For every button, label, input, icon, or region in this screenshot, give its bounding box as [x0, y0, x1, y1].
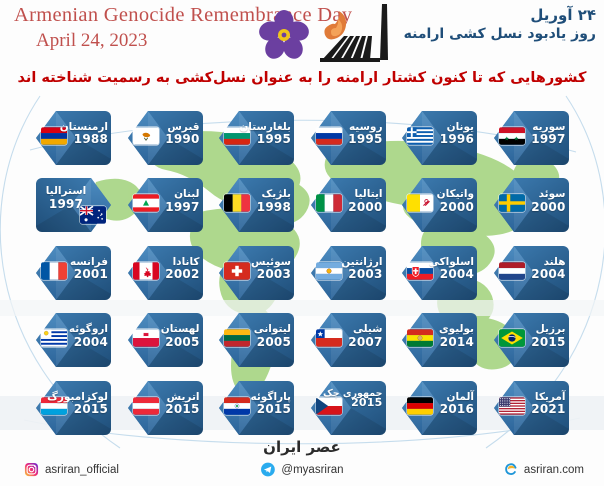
country-badge[interactable]: بولیوی2014 [400, 311, 479, 369]
country-badge-grid: ارمنستان1988 قبرس1990 بلغارستان1995 [0, 104, 604, 442]
infographic-poster: Armenian Genocide Remembrance Day April … [0, 0, 604, 486]
recognition-year: 2000 [514, 201, 566, 214]
country-badge[interactable]: فرانسه2001 [34, 244, 113, 302]
country-badge[interactable]: سوئیس2003 [217, 244, 296, 302]
badge-text: بلغارستان1995 [239, 122, 291, 146]
badge-text: برزیل2015 [514, 324, 566, 348]
recognition-year: 2014 [422, 336, 474, 349]
recognition-year: 1988 [56, 133, 108, 146]
country-badge[interactable]: لبنان1997 [126, 176, 205, 234]
recognition-year: 2004 [56, 336, 108, 349]
badge-text: کانادا2002 [148, 257, 200, 281]
country-name: لیتوانی [239, 324, 291, 335]
country-badge[interactable]: سوئد2000 [492, 176, 571, 234]
badge-text: سوریه1997 [514, 122, 566, 146]
country-name: استرالیا [38, 186, 94, 197]
country-badge[interactable]: یونان1996 [400, 109, 479, 167]
country-name: بلژیک [239, 189, 291, 200]
country-badge[interactable]: اسلواکی2004 [400, 244, 479, 302]
recognition-year: 1990 [148, 133, 200, 146]
website-url-label: asriran.com [524, 464, 584, 476]
telegram-handle[interactable]: @myasriran [260, 462, 343, 477]
recognition-year: 1995 [331, 133, 383, 146]
badge-text: لوکزامبورگ2015 [56, 392, 108, 416]
recognition-year: 2004 [422, 268, 474, 281]
badge-text: ارژانتین2003 [331, 257, 383, 281]
badge-text: شیلی2007 [331, 324, 383, 348]
badge-text: ارمنستان1988 [56, 122, 108, 146]
recognition-year: 1997 [38, 198, 94, 211]
telegram-handle-label: @myasriran [281, 464, 343, 476]
recognition-year: 2002 [148, 268, 200, 281]
country-badge[interactable]: ارمنستان1988 [34, 109, 113, 167]
badge-row: لوکزامبورگ2015 اتریش2015 پاراگوئه2015 [0, 374, 604, 442]
country-badge[interactable]: سوریه1997 [492, 109, 571, 167]
badge-text: جمهوری چک2015 [331, 389, 383, 409]
persian-subtitle: روز یادبود نسل کشی ارامنه [404, 25, 596, 44]
badge-text: آلمان2016 [422, 392, 474, 416]
brand-logo: عصر ایران [0, 438, 604, 456]
country-badge[interactable]: کانادا2002 [126, 244, 205, 302]
recognition-year: 2005 [239, 336, 291, 349]
recognition-year: 2004 [514, 268, 566, 281]
country-name: شیلی [331, 324, 383, 335]
country-badge[interactable]: آلمان2016 [400, 379, 479, 437]
recognition-year: 1995 [239, 133, 291, 146]
badge-text: ایتالیا2000 [331, 189, 383, 213]
country-name: بولیوی [422, 324, 474, 335]
country-badge[interactable]: روسیه1995 [309, 109, 388, 167]
telegram-icon [260, 462, 275, 477]
recognition-year: 2015 [514, 336, 566, 349]
country-badge[interactable]: ارژانتین2003 [309, 244, 388, 302]
poster-subtitle: کشورهایی که تا کنون کشتار ارامنه را به ع… [0, 70, 604, 86]
recognition-year: 2016 [422, 403, 474, 416]
recognition-year: 1997 [514, 133, 566, 146]
recognition-year: 2005 [148, 336, 200, 349]
badge-text: بولیوی2014 [422, 324, 474, 348]
badge-text: واتیکان2000 [422, 189, 474, 213]
badge-text: آمریکا2021 [514, 392, 566, 416]
badge-text: لیتوانی2005 [239, 324, 291, 348]
badge-row: استرالیا1997 لبنان1997 بلژیک1998 [0, 172, 604, 240]
recognition-year: 1998 [239, 201, 291, 214]
badge-text: اسلواکی2004 [422, 257, 474, 281]
country-badge[interactable]: هلند2004 [492, 244, 571, 302]
country-badge[interactable]: شیلی2007 [309, 311, 388, 369]
badge-text: اروگوئه2004 [56, 324, 108, 348]
country-badge[interactable]: استرالیا1997 [34, 176, 113, 234]
recognition-year: 2003 [331, 268, 383, 281]
badge-row: فرانسه2001 کانادا2002 سوئیس2003 [0, 239, 604, 307]
country-badge[interactable]: ایتالیا2000 [309, 176, 388, 234]
badge-text: بلژیک1998 [239, 189, 291, 213]
persian-date: ۲۴ آوریل [404, 5, 596, 25]
country-badge[interactable]: برزیل2015 [492, 311, 571, 369]
website-link[interactable]: asriran.com [503, 462, 584, 477]
recognition-year: 2021 [514, 403, 566, 416]
poster-header: Armenian Genocide Remembrance Day April … [0, 0, 604, 96]
country-badge[interactable]: واتیکان2000 [400, 176, 479, 234]
country-badge[interactable]: جمهوری چک2015 [309, 379, 388, 437]
badge-row: ارمنستان1988 قبرس1990 بلغارستان1995 [0, 104, 604, 172]
recognition-year: 2007 [331, 336, 383, 349]
badge-text: استرالیا1997 [38, 186, 94, 210]
recognition-year: 2000 [331, 201, 383, 214]
badge-text: سوئد2000 [514, 189, 566, 213]
instagram-icon [24, 462, 39, 477]
country-badge[interactable]: لهستان2005 [126, 311, 205, 369]
country-name: لهستان [148, 324, 200, 335]
browser-icon [503, 462, 518, 477]
country-badge[interactable]: اروگوئه2004 [34, 311, 113, 369]
recognition-year: 1997 [148, 201, 200, 214]
recognition-year: 1996 [422, 133, 474, 146]
badge-text: فرانسه2001 [56, 257, 108, 281]
country-badge[interactable]: بلغارستان1995 [217, 109, 296, 167]
country-badge[interactable]: آمریکا2021 [492, 379, 571, 437]
recognition-year: 2001 [56, 268, 108, 281]
recognition-year: 2015 [148, 403, 200, 416]
badge-text: یونان1996 [422, 122, 474, 146]
country-badge[interactable]: لوکزامبورگ2015 [34, 379, 113, 437]
recognition-year: 2015 [56, 403, 108, 416]
country-badge[interactable]: اتریش2015 [126, 379, 205, 437]
recognition-year: 2003 [239, 268, 291, 281]
recognition-year: 2015 [331, 397, 383, 409]
persian-title: ۲۴ آوریل روز یادبود نسل کشی ارامنه [404, 5, 596, 44]
badge-text: لهستان2005 [148, 324, 200, 348]
recognition-year: 2000 [422, 201, 474, 214]
country-badge[interactable]: پاراگوئه2015 [217, 379, 296, 437]
badge-text: اتریش2015 [148, 392, 200, 416]
instagram-handle-label: asriran_official [45, 464, 119, 476]
country-badge[interactable]: لیتوانی2005 [217, 311, 296, 369]
country-name: سوئد [514, 189, 566, 200]
badge-text: پاراگوئه2015 [239, 392, 291, 416]
badge-text: لبنان1997 [148, 189, 200, 213]
country-name: واتیکان [422, 189, 474, 200]
badge-row: اروگوئه2004 لهستان2005 لیتوانی2005 [0, 307, 604, 375]
badge-text: سوئیس2003 [239, 257, 291, 281]
instagram-handle[interactable]: asriran_official [24, 462, 119, 477]
memorial-emblem [258, 2, 410, 66]
badge-text: هلند2004 [514, 257, 566, 281]
country-name: اروگوئه [56, 324, 108, 335]
badge-text: قبرس1990 [148, 122, 200, 146]
recognition-year: 2015 [239, 403, 291, 416]
country-name: ایتالیا [331, 189, 383, 200]
country-name: برزیل [514, 324, 566, 335]
poster-footer: عصر ایران asriran_official [0, 438, 604, 486]
country-badge[interactable]: بلژیک1998 [217, 176, 296, 234]
country-badge[interactable]: قبرس1990 [126, 109, 205, 167]
badge-text: روسیه1995 [331, 122, 383, 146]
country-name: لبنان [148, 189, 200, 200]
